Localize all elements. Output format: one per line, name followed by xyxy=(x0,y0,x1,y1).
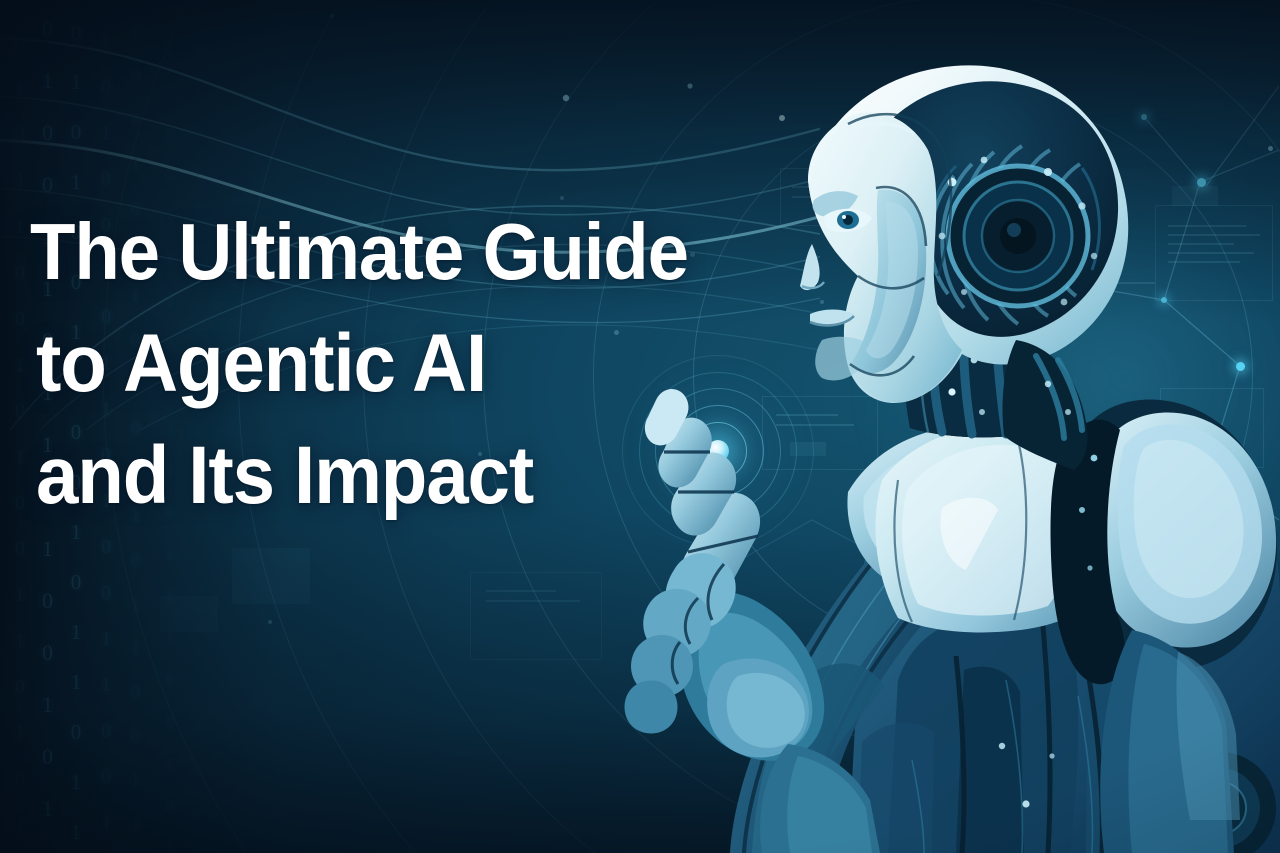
banner-title: The Ultimate Guide to Agentic AI and Its… xyxy=(30,196,790,532)
title-line-3: and Its Impact xyxy=(36,420,737,532)
hero-banner: 1 0 0 1 0 1 1 0 0 1 0 1 0 0 1 1 0 1 0 1 … xyxy=(0,0,1280,853)
title-line-1: The Ultimate Guide xyxy=(30,196,737,308)
title-line-2: to Agentic AI xyxy=(36,308,737,420)
